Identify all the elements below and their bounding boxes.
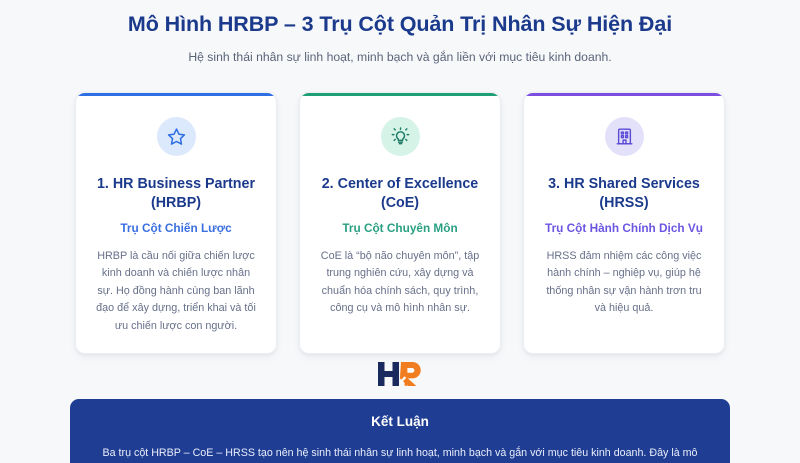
pillar-card-coe[interactable]: 2. Center of Excellence (CoE) Trụ Cột Ch… — [299, 92, 501, 354]
pillar-card-body: HRBP là cầu nối giữa chiến lược kinh doa… — [92, 248, 260, 335]
star-icon-badge — [157, 117, 196, 156]
pillar-card-title: 3. HR Shared Services (HRSS) — [540, 175, 708, 213]
pillar-card-subtitle: Trụ Cột Hành Chính Dịch Vụ — [540, 221, 708, 236]
page-subtitle: Hệ sinh thái nhân sự linh hoạt, minh bạc… — [0, 50, 800, 66]
star-icon — [167, 127, 186, 146]
page-title: Mô Hình HRBP – 3 Trụ Cột Quản Trị Nhân S… — [0, 12, 800, 38]
pillar-card-title: 2. Center of Excellence (CoE) — [316, 175, 484, 213]
conclusion-body: Ba trụ cột HRBP – CoE – HRSS tạo nên hệ … — [96, 444, 704, 463]
hr-logo — [377, 360, 423, 395]
building-icon — [615, 127, 634, 146]
logo-area — [0, 360, 800, 394]
lightbulb-icon-badge — [381, 117, 420, 156]
header: Mô Hình HRBP – 3 Trụ Cột Quản Trị Nhân S… — [0, 0, 800, 66]
pillar-card-hrss[interactable]: 3. HR Shared Services (HRSS) Trụ Cột Hàn… — [523, 92, 725, 354]
pillar-card-title: 1. HR Business Partner (HRBP) — [92, 175, 260, 213]
pillar-card-body: HRSS đảm nhiệm các công việc hành chính … — [540, 248, 708, 318]
pillar-card-body: CoE là “bộ não chuyên môn”, tập trung ng… — [316, 248, 484, 318]
building-icon-badge — [605, 117, 644, 156]
infographic-page: Mô Hình HRBP – 3 Trụ Cột Quản Trị Nhân S… — [0, 0, 800, 463]
pillar-card-subtitle: Trụ Cột Chiến Lược — [92, 221, 260, 236]
pillar-cards: 1. HR Business Partner (HRBP) Trụ Cột Ch… — [0, 92, 800, 354]
lightbulb-icon — [391, 127, 410, 146]
conclusion-panel: Kết Luận Ba trụ cột HRBP – CoE – HRSS tạ… — [70, 399, 730, 463]
pillar-card-subtitle: Trụ Cột Chuyên Môn — [316, 221, 484, 236]
conclusion-title: Kết Luận — [96, 413, 704, 431]
pillar-card-hrbp[interactable]: 1. HR Business Partner (HRBP) Trụ Cột Ch… — [75, 92, 277, 354]
